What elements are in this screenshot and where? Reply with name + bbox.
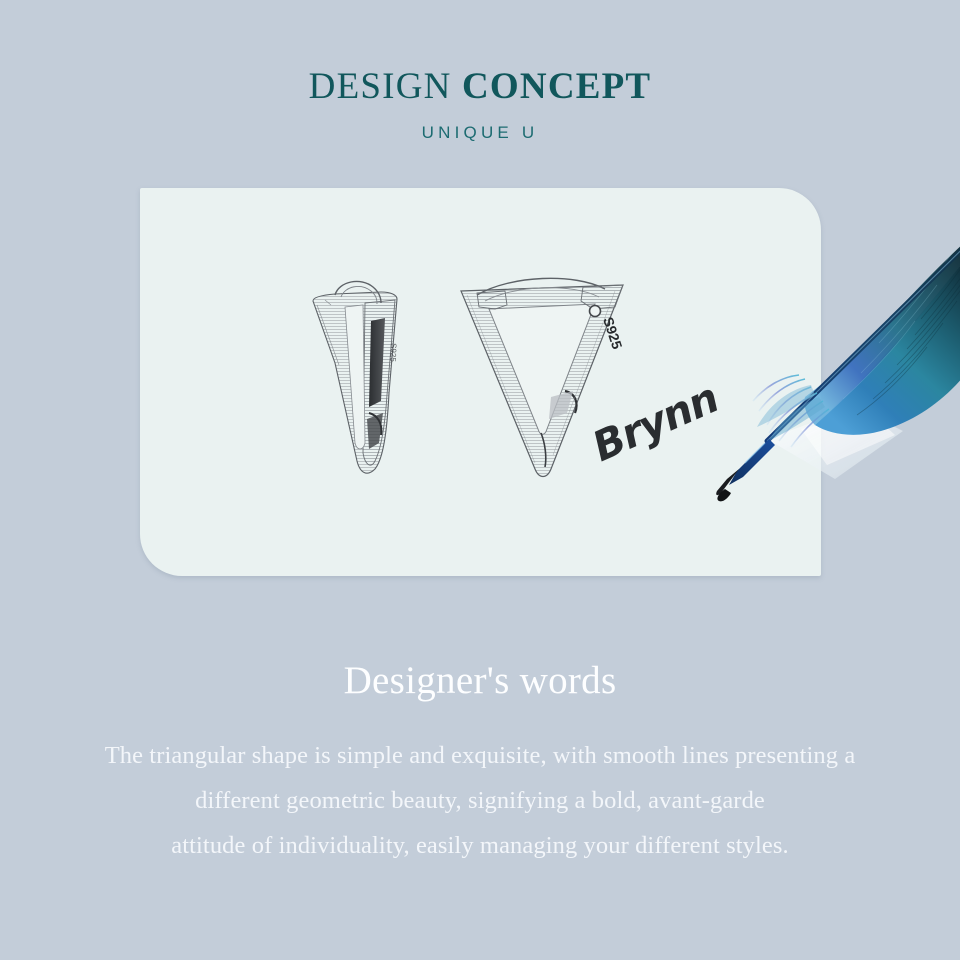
page-title-light: DESIGN [309, 66, 452, 107]
header: DESIGN CONCEPT UNIQUE U [0, 0, 960, 143]
page-title: DESIGN CONCEPT [0, 68, 960, 107]
designer-words-heading: Designer's words [0, 658, 960, 703]
page-title-bold: CONCEPT [462, 66, 651, 107]
designer-words-line-3: attitude of individuality, easily managi… [0, 823, 960, 868]
feather-quill-pen [715, 193, 960, 533]
feather-fluff [753, 375, 829, 447]
designer-words-line-2: different geometric beauty, signifying a… [0, 778, 960, 823]
svg-text:S925: S925 [388, 343, 398, 363]
earring-sketch-group: S925 [305, 273, 665, 503]
designer-words-body: The triangular shape is simple and exqui… [0, 733, 960, 868]
page-subtitle: UNIQUE U [0, 123, 960, 143]
paper-shape [767, 407, 903, 479]
earring-side-view-sketch: S925 [313, 281, 398, 473]
design-sketch-card: S925 [140, 188, 821, 576]
designer-words-line-1: The triangular shape is simple and exqui… [0, 733, 960, 778]
designer-words-section: Designer's words The triangular shape is… [0, 658, 960, 868]
card-container: S925 [0, 188, 960, 578]
